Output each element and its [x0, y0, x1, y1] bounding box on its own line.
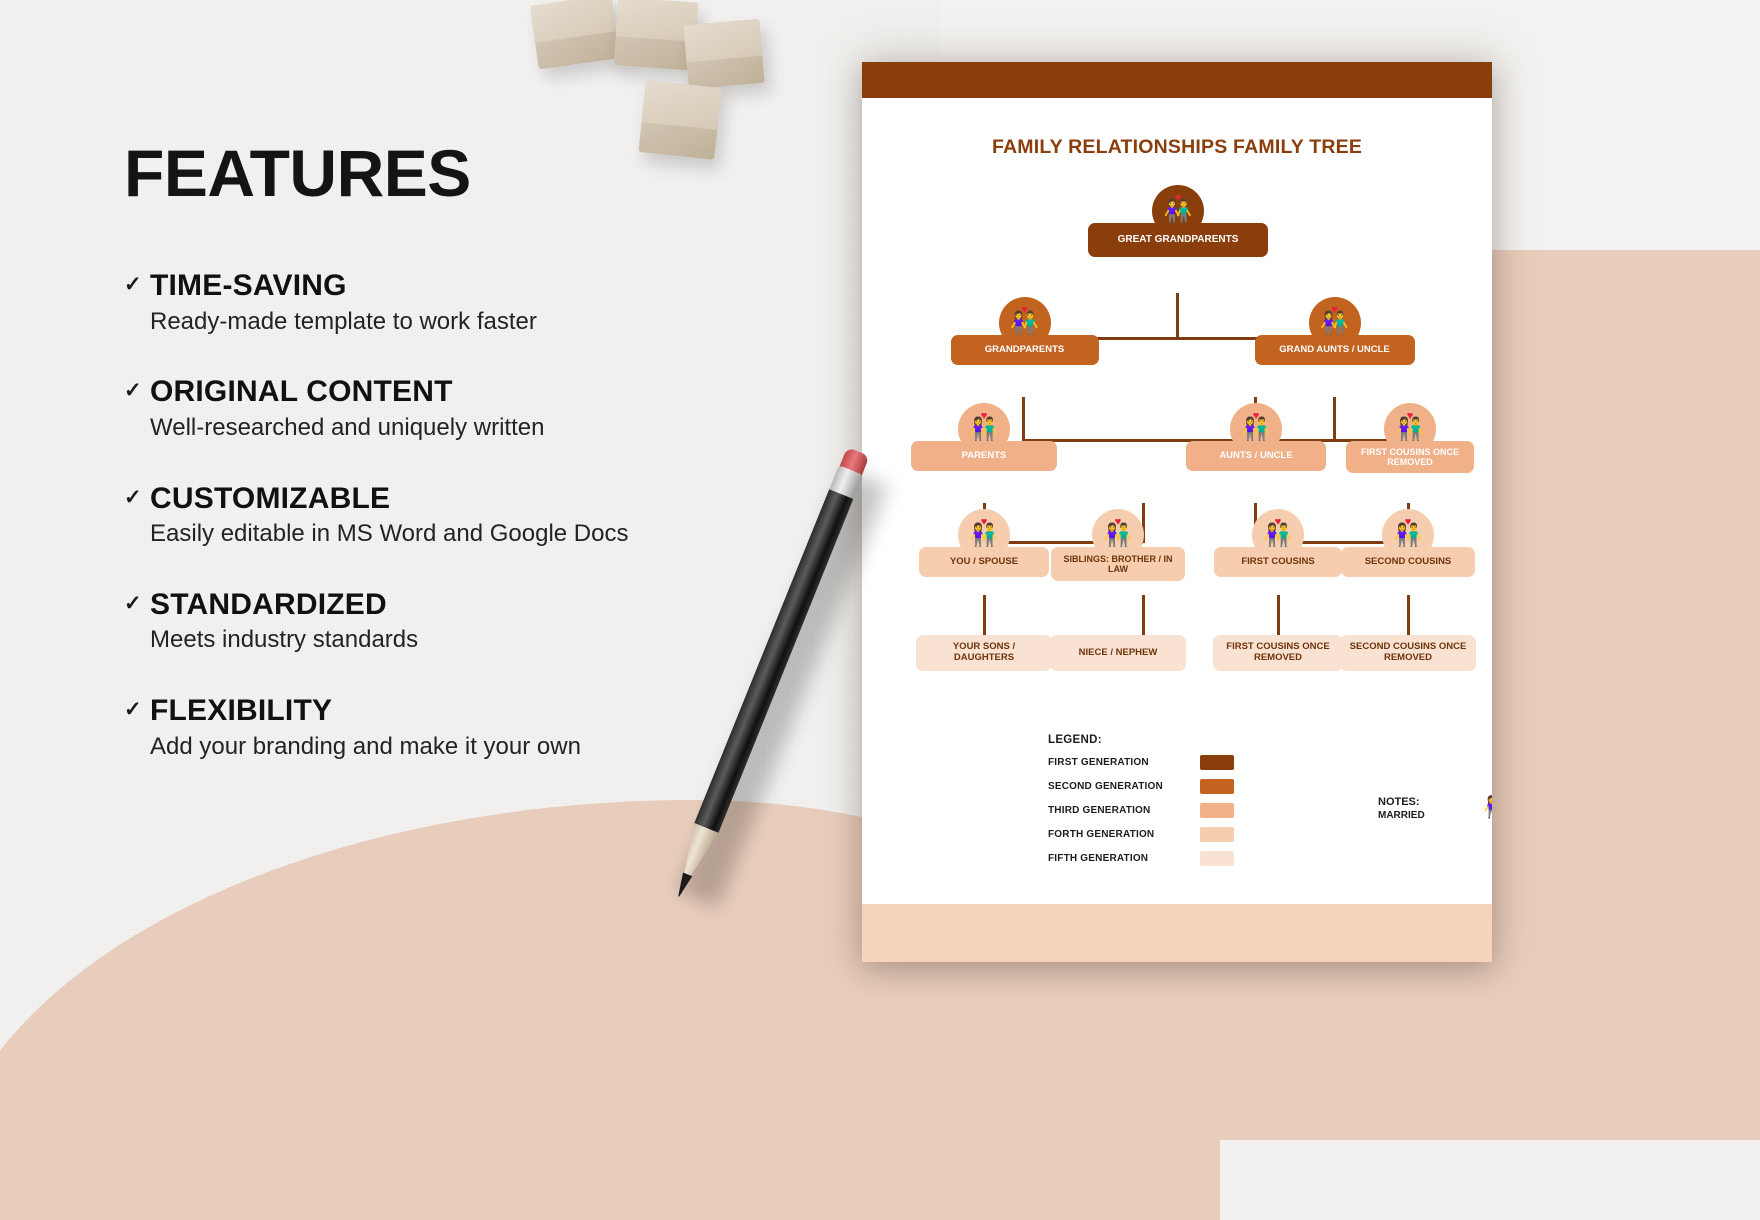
legend-swatch: [1200, 827, 1234, 842]
tree-node-label: YOUR SONS / DAUGHTERS: [916, 635, 1052, 671]
feature-description: Ready-made template to work faster: [150, 308, 824, 337]
feature-title: TIME-SAVING: [150, 270, 824, 302]
feature-title: CUSTOMIZABLE: [150, 483, 824, 515]
heart-icon: ♥: [1253, 410, 1260, 422]
feature-list: ✓ TIME-SAVING Ready-made template to wor…: [124, 270, 824, 761]
check-icon: ✓: [124, 376, 150, 406]
tree-node-label: SECOND COUSINS ONCE REMOVED: [1340, 635, 1476, 671]
feature-item-flexibility: ✓ FLEXIBILITY Add your branding and make…: [124, 695, 824, 761]
tree-node-label: GRAND AUNTS / UNCLE: [1255, 335, 1415, 365]
document-title: FAMILY RELATIONSHIPS FAMILY TREE: [862, 136, 1492, 159]
connector-vertical: [1176, 293, 1179, 339]
document-header-bar: [862, 62, 1492, 98]
tree-node-label: PARENTS: [911, 441, 1057, 471]
connector-vertical: [1277, 595, 1280, 635]
feature-text: TIME-SAVING Ready-made template to work …: [150, 270, 824, 336]
tree-node-label: GRANDPARENTS: [951, 335, 1099, 365]
legend-row-first-generation: FIRST GENERATION: [1048, 755, 1468, 770]
notes-title: NOTES:: [1378, 796, 1425, 808]
feature-description: Easily editable in MS Word and Google Do…: [150, 520, 824, 549]
feature-text: CUSTOMIZABLE Easily editable in MS Word …: [150, 483, 824, 549]
family-tree-diagram: ♥ 👫 GREAT GRANDPARENTS ♥ 👫 GRANDPARENTS …: [862, 185, 1492, 745]
document-footer-bar: [862, 904, 1492, 962]
block-top-face: [530, 0, 616, 43]
heart-icon: ♥: [1405, 516, 1412, 528]
connector-vertical: [1142, 595, 1145, 635]
feature-description: Add your branding and make it your own: [150, 733, 824, 762]
legend: LEGEND: FIRST GENERATION SECOND GENERATI…: [1048, 734, 1468, 866]
legend-title: LEGEND:: [1048, 734, 1468, 746]
notes-block: NOTES: MARRIED ♥ 👫: [1378, 796, 1425, 821]
legend-label: THIRD GENERATION: [1048, 805, 1200, 816]
legend-row-forth-generation: FORTH GENERATION: [1048, 827, 1468, 842]
tree-node-label: GREAT GRANDPARENTS: [1088, 223, 1268, 257]
heart-icon: ♥: [981, 410, 988, 422]
legend-swatch: [1200, 851, 1234, 866]
block-top-face: [642, 80, 722, 129]
married-couple-icon: ♥ 👫: [1474, 788, 1492, 828]
tree-node-label: SECOND COUSINS: [1341, 547, 1475, 577]
check-icon: ✓: [124, 483, 150, 513]
tree-node-label: AUNTS / UNCLE: [1186, 441, 1326, 471]
legend-label: FIRST GENERATION: [1048, 757, 1200, 768]
heart-icon: ♥: [1407, 410, 1414, 422]
feature-text: ORIGINAL CONTENT Well-researched and uni…: [150, 376, 824, 442]
tree-node-label: YOU / SPOUSE: [919, 547, 1049, 577]
connector-vertical: [983, 595, 986, 635]
heart-icon: ♥: [1275, 516, 1282, 528]
wooden-block-3: [683, 19, 764, 89]
feature-title: ORIGINAL CONTENT: [150, 376, 824, 408]
block-top-face: [683, 19, 762, 63]
feature-title: STANDARDIZED: [150, 589, 824, 621]
heart-icon: ♥: [1021, 304, 1028, 316]
check-icon: ✓: [124, 695, 150, 725]
legend-swatch: [1200, 803, 1234, 818]
check-icon: ✓: [124, 270, 150, 300]
tree-node-label: FIRST COUSINS: [1214, 547, 1342, 577]
tree-node-label: FIRST COUSINS ONCE REMOVED: [1213, 635, 1343, 671]
feature-description: Well-researched and uniquely written: [150, 414, 824, 443]
legend-swatch: [1200, 779, 1234, 794]
notes-value: MARRIED: [1378, 810, 1425, 821]
feature-item-original-content: ✓ ORIGINAL CONTENT Well-researched and u…: [124, 376, 824, 442]
feature-text: STANDARDIZED Meets industry standards: [150, 589, 824, 655]
heart-icon: ♥: [1175, 192, 1182, 204]
connector-vertical: [1022, 397, 1025, 441]
feature-text: FLEXIBILITY Add your branding and make i…: [150, 695, 824, 761]
wooden-block-1: [530, 0, 620, 69]
legend-swatch: [1200, 755, 1234, 770]
feature-description: Meets industry standards: [150, 626, 824, 655]
legend-row-fifth-generation: FIFTH GENERATION: [1048, 851, 1468, 866]
feature-item-time-saving: ✓ TIME-SAVING Ready-made template to wor…: [124, 270, 824, 336]
family-tree-document: FAMILY RELATIONSHIPS FAMILY TREE ♥ 👫 GR: [862, 62, 1492, 962]
tree-node-label: FIRST COUSINS ONCE REMOVED: [1346, 441, 1474, 473]
feature-item-standardized: ✓ STANDARDIZED Meets industry standards: [124, 589, 824, 655]
tree-node-label: NIECE / NEPHEW: [1050, 635, 1186, 671]
legend-row-second-generation: SECOND GENERATION: [1048, 779, 1468, 794]
legend-label: FIFTH GENERATION: [1048, 853, 1200, 864]
heart-icon: ♥: [1115, 516, 1122, 528]
heart-icon: ♥: [981, 516, 988, 528]
legend-label: SECOND GENERATION: [1048, 781, 1200, 792]
feature-item-customizable: ✓ CUSTOMIZABLE Easily editable in MS Wor…: [124, 483, 824, 549]
heart-icon: ♥: [1331, 304, 1338, 316]
legend-label: FORTH GENERATION: [1048, 829, 1200, 840]
couple-icon: 👫: [1484, 796, 1492, 820]
features-panel: FEATURES ✓ TIME-SAVING Ready-made templa…: [124, 140, 824, 801]
page-title: FEATURES: [124, 140, 824, 206]
tree-node-label: SIBLINGS: BROTHER / IN LAW: [1051, 547, 1185, 581]
check-icon: ✓: [124, 589, 150, 619]
connector-vertical: [1333, 397, 1336, 441]
connector-vertical: [1407, 595, 1410, 635]
feature-title: FLEXIBILITY: [150, 695, 824, 727]
